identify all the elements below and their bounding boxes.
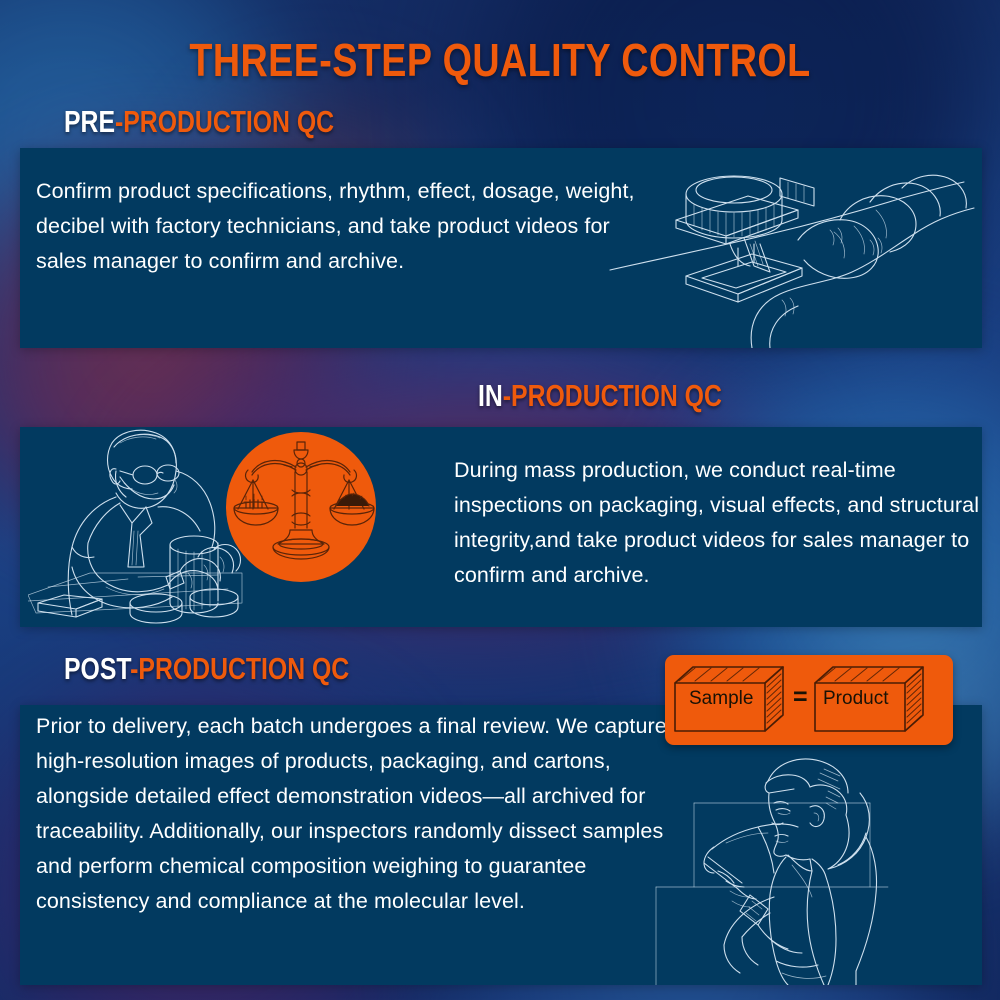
hands-holding-device-icon [602,148,982,348]
step-3-panel: Prior to delivery, each batch undergoes … [20,705,982,985]
infographic-canvas: THREE-STEP QUALITY CONTROL PRE-PRODUCTIO… [0,0,1000,1000]
page-title: THREE-STEP QUALITY CONTROL [90,33,910,87]
step-1-heading-suffix: -PRODUCTION QC [115,104,334,139]
balance-scale-badge [226,432,376,582]
badge-label-equals: = [793,683,808,712]
step-2-heading: IN-PRODUCTION QC [478,378,722,414]
step-1-panel: Confirm product specifications, rhythm, … [20,148,982,348]
inspector-with-clipboard-icon [642,747,972,985]
step-1-heading: PRE-PRODUCTION QC [64,104,334,140]
step-3-body-text: Prior to delivery, each batch undergoes … [36,709,676,919]
step-2-panel: During mass production, we conduct real-… [20,427,982,627]
step-2-body-text: During mass production, we conduct real-… [454,453,982,593]
step-3-heading-suffix: -PRODUCTION QC [130,651,349,686]
sample-equals-product-badge: Sample = Product [665,655,953,745]
step-2-heading-suffix: -PRODUCTION QC [503,378,722,413]
step-3-heading: POST-PRODUCTION QC [64,651,349,687]
step-1-heading-prefix: PRE [64,104,115,139]
worker-inspecting-products-icon [28,427,258,627]
step-1-body-text: Confirm product specifications, rhythm, … [36,174,636,279]
badge-label-product: Product [823,688,888,710]
step-3-heading-prefix: POST [64,651,130,686]
step-2-heading-prefix: IN [478,378,503,413]
badge-label-sample: Sample [689,688,753,710]
